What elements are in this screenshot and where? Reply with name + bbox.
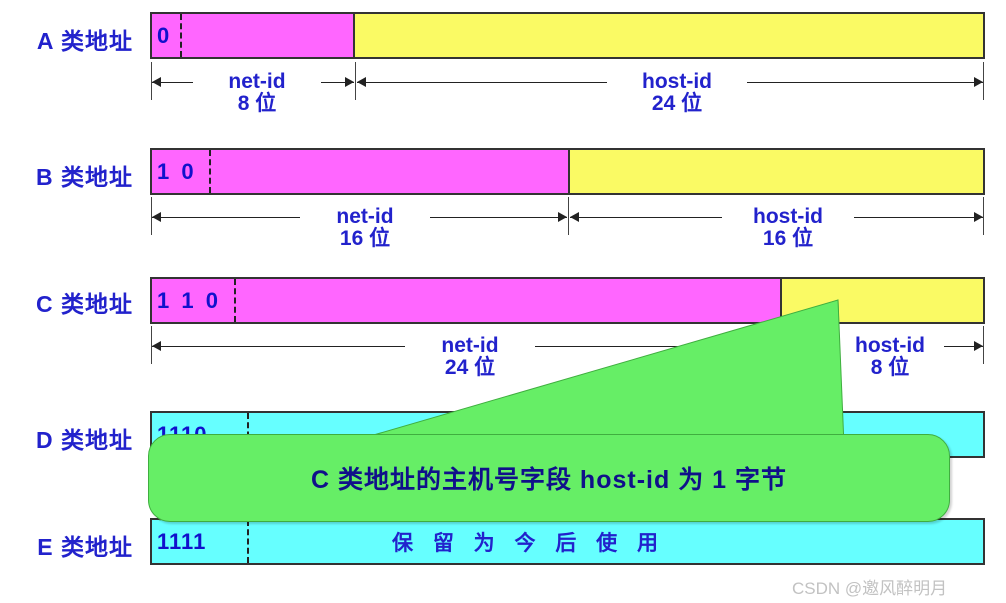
callout-box: C 类地址的主机号字段 host-id 为 1 字节 [148, 434, 950, 522]
diagram-canvas: A 类地址 0 net-id 8 位 host-id 24 位 B 类地址 1 … [0, 0, 1006, 603]
watermark: CSDN @邀风醉明月 [792, 574, 947, 599]
callout-text: C 类地址的主机号字段 host-id 为 1 字节 [311, 460, 787, 496]
